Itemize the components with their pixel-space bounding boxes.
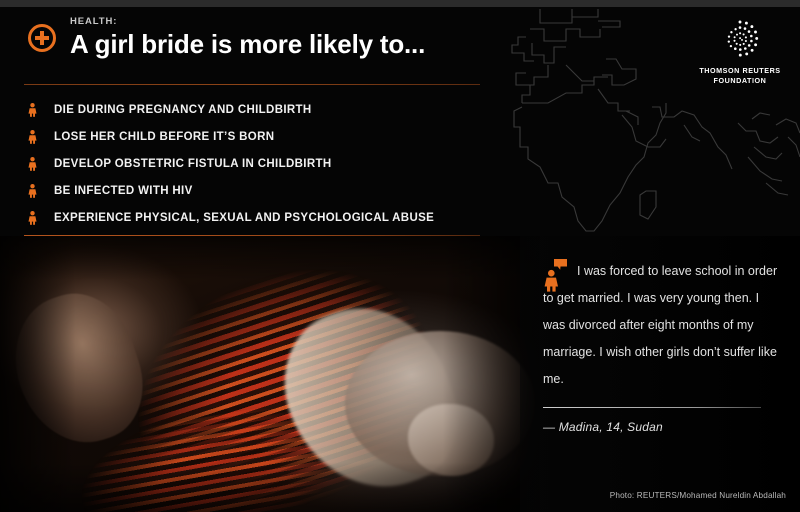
testimonial-quote: I was forced to leave school in order to…: [543, 258, 783, 434]
list-item: DEVELOP OBSTETRIC FISTULA IN CHILDBIRTH: [24, 150, 494, 177]
logo-text-line1: THOMSON REUTERS: [694, 66, 786, 76]
divider-top: [24, 84, 480, 85]
girl-figure-icon: [28, 211, 37, 225]
girl-figure-icon: [28, 103, 37, 117]
top-chrome-strip: [0, 0, 800, 7]
list-item-label: EXPERIENCE PHYSICAL, SEXUAL AND PSYCHOLO…: [54, 212, 434, 224]
girl-figure-icon: [28, 157, 37, 171]
risk-list: DIE DURING PREGNANCY AND CHILDBIRTH LOSE…: [24, 96, 494, 231]
list-item-label: LOSE HER CHILD BEFORE IT’S BORN: [54, 131, 274, 143]
health-plus-circle-icon: [28, 24, 56, 52]
page-title: A girl bride is more likely to...: [70, 28, 498, 60]
list-item-label: DIE DURING PREGNANCY AND CHILDBIRTH: [54, 104, 312, 116]
girl-figure-icon: [28, 130, 37, 144]
photo-vignette: [0, 236, 540, 512]
girl-speech-bubble-icon: [543, 258, 569, 292]
girl-figure-icon: [28, 184, 37, 198]
list-item-label: BE INFECTED WITH HIV: [54, 185, 193, 197]
logo-text-line2: FOUNDATION: [694, 76, 786, 86]
infographic-canvas: HEALTH: A girl bride is more likely to..…: [0, 0, 800, 512]
list-item: EXPERIENCE PHYSICAL, SEXUAL AND PSYCHOLO…: [24, 204, 494, 231]
thomson-reuters-spiral-icon: [717, 16, 763, 62]
header: HEALTH: A girl bride is more likely to..…: [28, 16, 498, 60]
list-item-label: DEVELOP OBSTETRIC FISTULA IN CHILDBIRTH: [54, 158, 332, 170]
list-item: BE INFECTED WITH HIV: [24, 177, 494, 204]
kicker-label: HEALTH:: [70, 16, 498, 28]
divider-bottom: [24, 235, 480, 236]
photo-credit: Photo: REUTERS/Mohamed Nureldin Abdallah: [610, 491, 786, 500]
quote-author: — Madina, 14, Sudan: [543, 420, 783, 434]
brand-logo: THOMSON REUTERS FOUNDATION: [694, 16, 786, 85]
quote-text: I was forced to leave school in order to…: [543, 258, 783, 393]
photo-pregnant-young-woman: [0, 236, 540, 512]
list-item: LOSE HER CHILD BEFORE IT’S BORN: [24, 123, 494, 150]
list-item: DIE DURING PREGNANCY AND CHILDBIRTH: [24, 96, 494, 123]
quote-divider: [543, 407, 761, 408]
